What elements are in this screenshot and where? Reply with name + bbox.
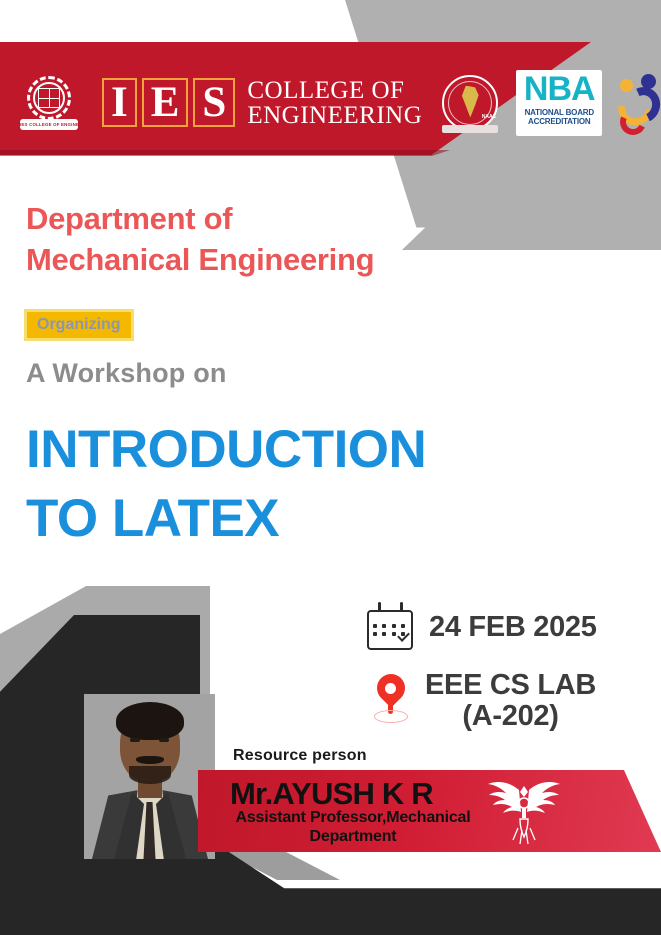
innovation-council-logo: INSTITUTION'S INNOVATION COUNCIL (Minist… — [616, 69, 661, 136]
nba-accreditation-logo: NBA NATIONAL BOARD ACCREDITATION — [516, 70, 602, 136]
nba-letters: NBA — [516, 71, 602, 107]
title-line-2: TO LATEX — [26, 484, 626, 553]
naac-seal-icon: NAAC — [440, 73, 500, 133]
speaker-name: Mr.AYUSH K R — [230, 777, 433, 811]
red-header-shadow — [0, 150, 450, 156]
ies-letter-s: S — [193, 78, 235, 127]
college-of-text: COLLEGE OF — [247, 78, 422, 103]
resource-person-label: Resource person — [233, 747, 367, 765]
speaker-photo — [84, 694, 215, 859]
crest-ribbon-text: IES COLLEGE OF ENGINEERING — [20, 119, 78, 130]
department-title: Department of Mechanical Engineering — [26, 198, 546, 280]
nba-sub-line2: ACCREDITATION — [516, 117, 602, 127]
event-details: 24 FEB 2025 EEE CS LAB (A-202) — [365, 602, 655, 750]
naac-label: NAAC — [482, 114, 496, 120]
workshop-main-title: INTRODUCTION TO LATEX — [26, 415, 626, 553]
ies-college-wordmark: I E S COLLEGE OF ENGINEERING — [102, 78, 422, 128]
location-pin-icon — [365, 672, 417, 730]
title-line-1: INTRODUCTION — [26, 415, 626, 484]
event-venue: EEE CS LAB (A-202) — [425, 670, 596, 732]
event-date: 24 FEB 2025 — [429, 611, 597, 643]
speaker-role-line-1: Assistant Professor,Mechanical — [228, 808, 478, 827]
venue-line-2: (A-202) — [425, 701, 596, 732]
ies-crest-icon: IES COLLEGE OF ENGINEERING — [20, 74, 78, 132]
iic-human-figure-icon — [616, 71, 661, 135]
venue-row: EEE CS LAB (A-202) — [365, 670, 655, 732]
organizing-badge: Organizing — [24, 309, 134, 341]
department-line-2: Mechanical Engineering — [26, 239, 546, 280]
department-line-1: Department of — [26, 198, 546, 239]
date-row: 24 FEB 2025 — [365, 602, 655, 652]
calendar-icon — [365, 602, 417, 652]
eagle-emblem-icon — [478, 770, 570, 850]
engineering-text: ENGINEERING — [247, 103, 422, 128]
speaker-role-line-2: Department — [228, 827, 478, 846]
workshop-prefix: A Workshop on — [26, 357, 227, 389]
speaker-role: Assistant Professor,Mechanical Departmen… — [228, 808, 478, 846]
event-poster: IES COLLEGE OF ENGINEERING I E S COLLEGE… — [0, 0, 661, 935]
nba-sub-line1: NATIONAL BOARD — [516, 108, 602, 118]
ies-letter-e: E — [142, 78, 189, 127]
ies-letter-i: I — [102, 78, 137, 127]
venue-line-1: EEE CS LAB — [425, 670, 596, 701]
header-logo-row: IES COLLEGE OF ENGINEERING I E S COLLEGE… — [0, 55, 661, 150]
